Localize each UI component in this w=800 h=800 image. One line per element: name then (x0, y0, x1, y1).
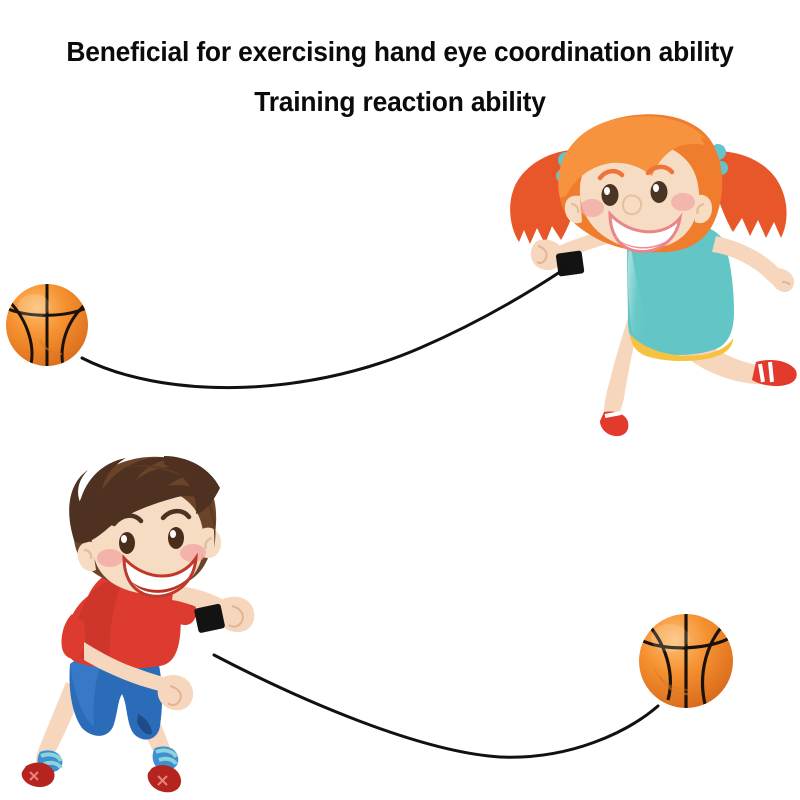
boy-legs (22, 682, 181, 792)
girl-pigtail-left (510, 150, 582, 244)
boy-eye-right (168, 527, 184, 549)
boy-head (69, 456, 221, 596)
boy-shirt (61, 566, 196, 669)
basketball-top-left (6, 284, 90, 370)
product-feature-image: Beneficial for exercising hand eye coord… (0, 0, 800, 800)
illustration-canvas (0, 0, 800, 800)
girl-hair-tie-left-2 (556, 169, 570, 183)
girl-wristband (556, 250, 585, 276)
girl-shoe-right (752, 360, 797, 386)
boy-shoe-right (148, 765, 181, 792)
boy-hand-lower (158, 675, 193, 710)
girl-dress (627, 221, 734, 361)
girl-running-figure (510, 114, 797, 436)
boy-shorts (70, 648, 163, 740)
girl-eye-right (651, 181, 668, 203)
girl-head (558, 114, 722, 252)
boy-wristband (194, 603, 226, 633)
boy-arms (84, 586, 254, 710)
boy-shoe-left (22, 763, 55, 788)
tether-cord-lower (214, 655, 658, 757)
tether-cord-upper (82, 268, 566, 388)
headline-line-1: Beneficial for exercising hand eye coord… (16, 36, 784, 68)
girl-arms (531, 229, 794, 292)
girl-collar (638, 223, 683, 243)
girl-under-shorts (646, 335, 676, 352)
girl-legs (600, 312, 797, 436)
girl-hand-left (531, 240, 563, 270)
girl-hair-tie-right (710, 144, 726, 160)
girl-pigtail-right (706, 151, 787, 238)
girl-shoe-left (600, 411, 628, 436)
headline-line-2: Training reaction ability (16, 86, 784, 118)
boy-hand-upper (217, 597, 254, 632)
girl-hair-tie-left (558, 152, 574, 168)
boy-running-figure (22, 456, 255, 792)
basketball-bottom-right (639, 614, 733, 708)
girl-eye-left (602, 184, 619, 206)
boy-eye-left (119, 532, 135, 554)
girl-hand-right (771, 268, 794, 292)
girl-hair-tie-right-2 (714, 161, 728, 175)
